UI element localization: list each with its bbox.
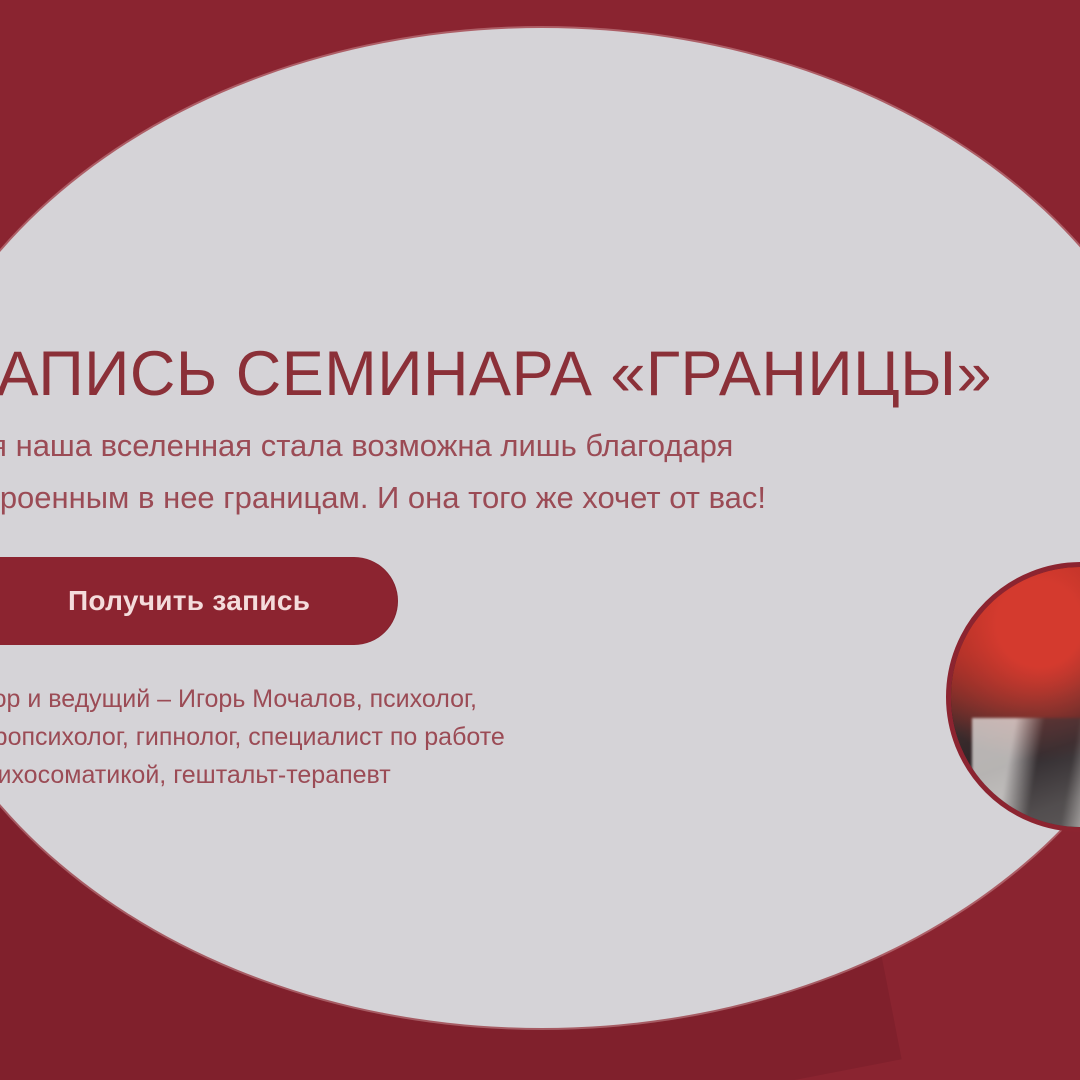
- page-title: ЗАПИСЬ СЕМИНАРА «ГРАНИЦЫ»: [0, 336, 1080, 412]
- subtitle-line-1: Вся наша вселенная стала возможна лишь б…: [0, 420, 1054, 472]
- get-recording-button[interactable]: Получить запись: [0, 557, 398, 645]
- author-portrait-photo: [946, 562, 1080, 832]
- hero-subtitle: Вся наша вселенная стала возможна лишь б…: [0, 420, 1054, 524]
- author-line-3: с психосоматикой, гештальт-терапевт: [0, 756, 952, 794]
- hero-content: ЗАПИСЬ СЕМИНАРА «ГРАНИЦЫ» Вся наша вселе…: [0, 0, 1080, 1080]
- author-description: Автор и ведущий – Игорь Мочалов, психоло…: [0, 680, 952, 794]
- author-line-2: нейропсихолог, гипнолог, специалист по р…: [0, 718, 952, 756]
- author-line-1: Автор и ведущий – Игорь Мочалов, психоло…: [0, 680, 952, 718]
- subtitle-line-2: встроенным в нее границам. И она того же…: [0, 472, 1054, 524]
- landing-hero-slide: ЗАПИСЬ СЕМИНАРА «ГРАНИЦЫ» Вся наша вселе…: [0, 0, 1080, 1080]
- portrait-image: [951, 567, 1080, 827]
- get-recording-button-label: Получить запись: [68, 585, 310, 617]
